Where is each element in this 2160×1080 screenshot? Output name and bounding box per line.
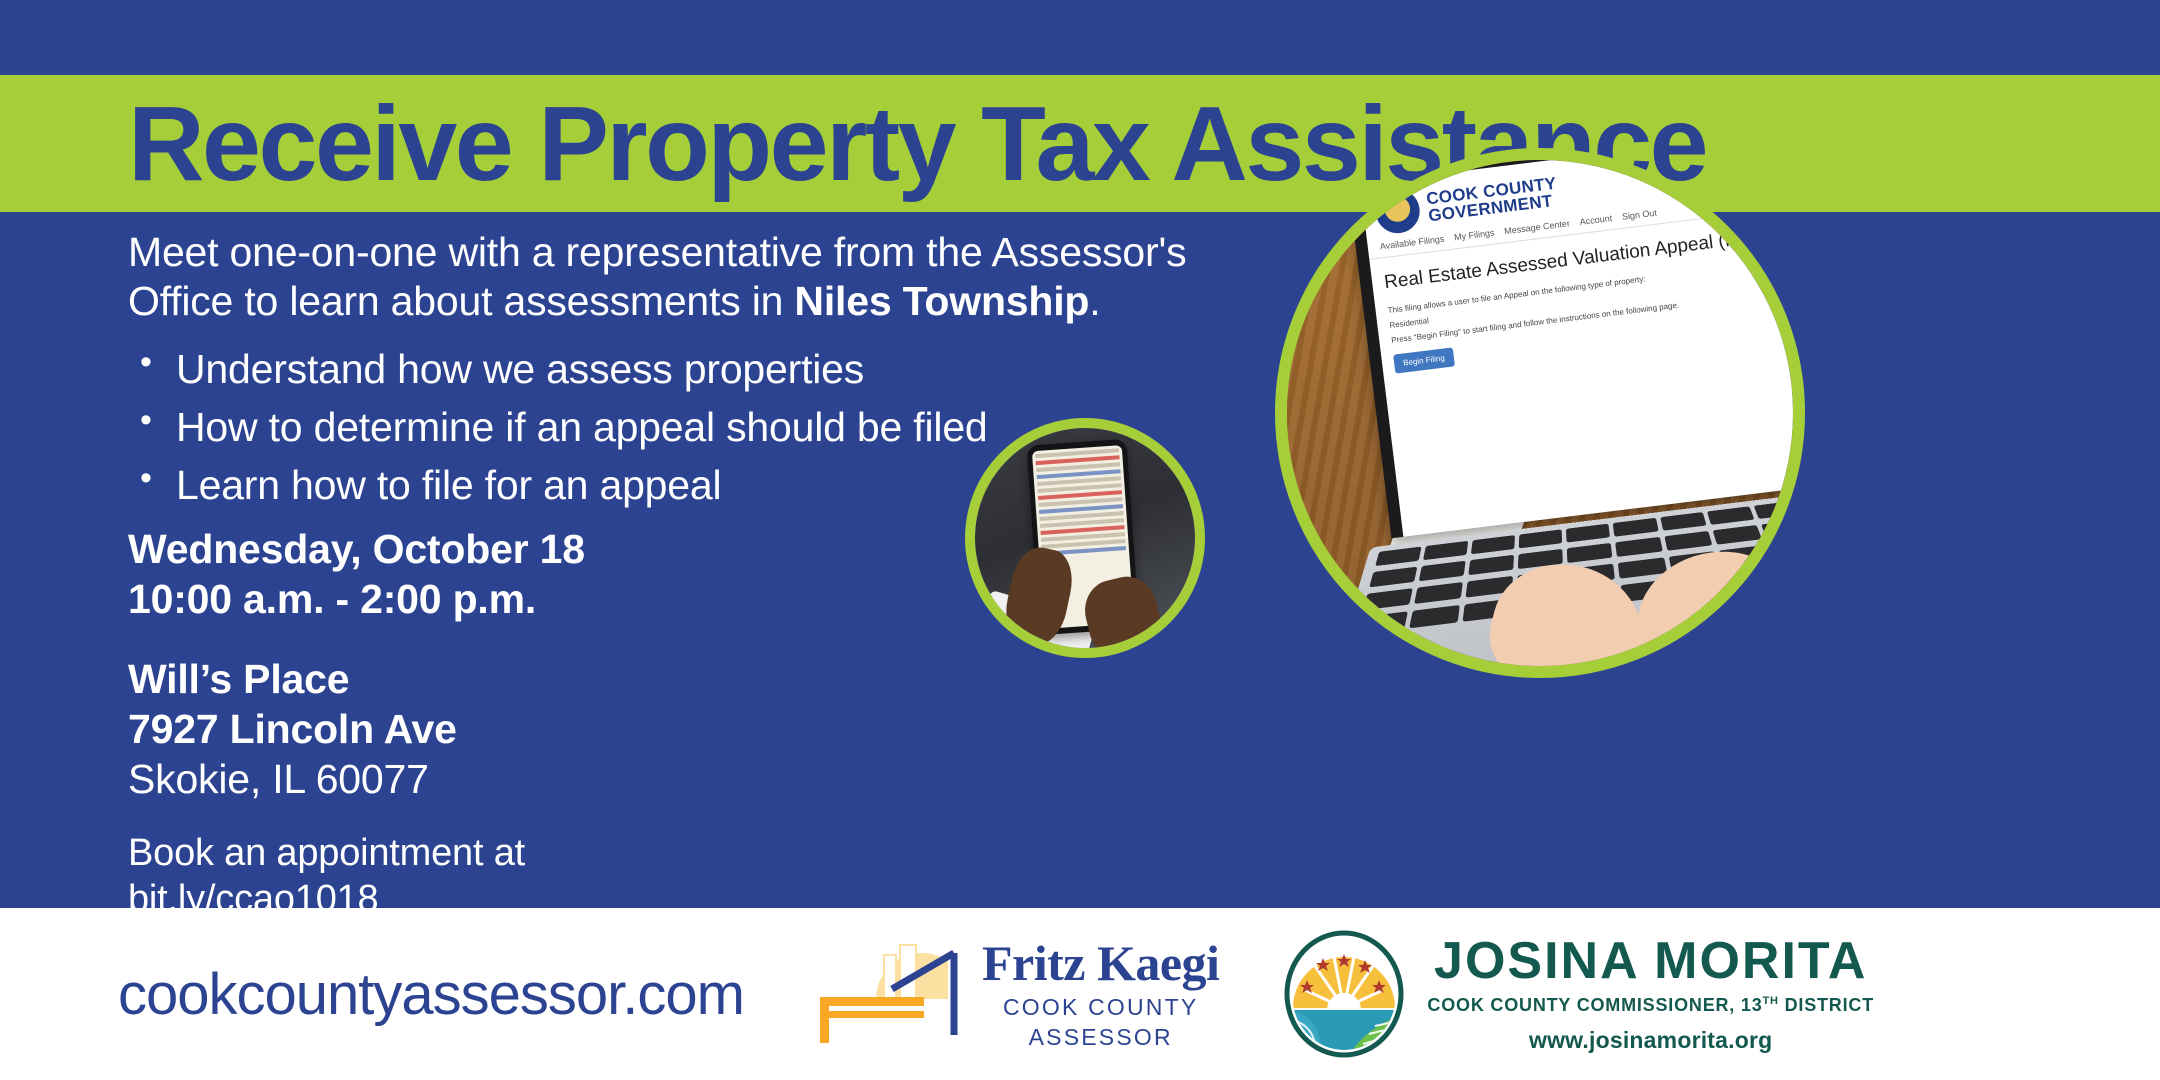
main-content: Meet one-on-one with a representative fr… xyxy=(128,228,1398,922)
list-item: How to determine if an appeal should be … xyxy=(128,402,1398,452)
laptop-lid: COOK COUNTY GOVERNMENT Available Filings… xyxy=(1346,148,1805,538)
event-time: 10:00 a.m. - 2:00 p.m. xyxy=(128,574,1398,624)
lede-paragraph: Meet one-on-one with a representative fr… xyxy=(128,228,1398,326)
phone-photo-circle xyxy=(965,418,1205,658)
kaegi-name: Fritz Kaegi xyxy=(982,938,1219,988)
township-name: Niles Township xyxy=(794,278,1089,324)
kaegi-sub-assessor: ASSESSOR xyxy=(982,1024,1219,1051)
morita-title-prefix: COOK COUNTY COMMISSIONER, 13 xyxy=(1427,995,1762,1015)
footer-bar: cookcountyassessor.com Fritz Kaegi COOK … xyxy=(0,908,2160,1080)
josina-morita-logo: JOSINA MORITA COOK COUNTY COMMISSIONER, … xyxy=(1283,930,1874,1058)
ccao-house-sun-logo-icon xyxy=(814,939,964,1049)
fritz-kaegi-logo: Fritz Kaegi COOK COUNTY ASSESSOR xyxy=(982,938,1219,1051)
begin-filing-button[interactable]: Begin Filing xyxy=(1393,347,1455,373)
venue-city-state-zip: Skokie, IL 60077 xyxy=(128,754,1398,804)
list-item: Learn how to file for an appeal xyxy=(128,460,1398,510)
lede-line-2-suffix: . xyxy=(1089,278,1100,324)
title-band: Receive Property Tax Assistance xyxy=(0,75,2160,212)
lede-line-1: Meet one-on-one with a representative fr… xyxy=(128,229,1186,275)
venue-name: Will’s Place xyxy=(128,654,1398,704)
laptop-photo-circle: COOK COUNTY GOVERNMENT Available Filings… xyxy=(1275,148,1805,678)
benefits-list: Understand how we assess properties How … xyxy=(128,344,1398,510)
morita-name: JOSINA MORITA xyxy=(1427,935,1874,987)
booking-prompt: Book an appointment at xyxy=(128,830,1398,876)
laptop-screen: COOK COUNTY GOVERNMENT Available Filings… xyxy=(1360,148,1805,537)
morita-title-suffix: DISTRICT xyxy=(1779,995,1874,1015)
assessor-website[interactable]: cookcountyassessor.com xyxy=(118,961,744,1028)
event-venue: Will’s Place 7927 Lincoln Ave Skokie, IL… xyxy=(128,654,1398,804)
morita-title-ordinal: TH xyxy=(1763,995,1779,1007)
morita-website[interactable]: www.josinamorita.org xyxy=(1427,1027,1874,1054)
kaegi-sub-cook-county: COOK COUNTY xyxy=(982,994,1219,1021)
morita-title: COOK COUNTY COMMISSIONER, 13TH DISTRICT xyxy=(1427,995,1874,1016)
list-item: Understand how we assess properties xyxy=(128,344,1398,394)
flyer-canvas: Receive Property Tax Assistance Meet one… xyxy=(0,0,2160,1080)
lede-line-2-prefix: Office to learn about assessments in xyxy=(128,278,794,324)
event-datetime: Wednesday, October 18 10:00 a.m. - 2:00 … xyxy=(128,524,1398,624)
venue-street: 7927 Lincoln Ave xyxy=(128,704,1398,754)
event-date: Wednesday, October 18 xyxy=(128,524,1398,574)
cook-county-seal-icon xyxy=(1373,187,1422,236)
morita-seal-icon xyxy=(1283,930,1405,1058)
